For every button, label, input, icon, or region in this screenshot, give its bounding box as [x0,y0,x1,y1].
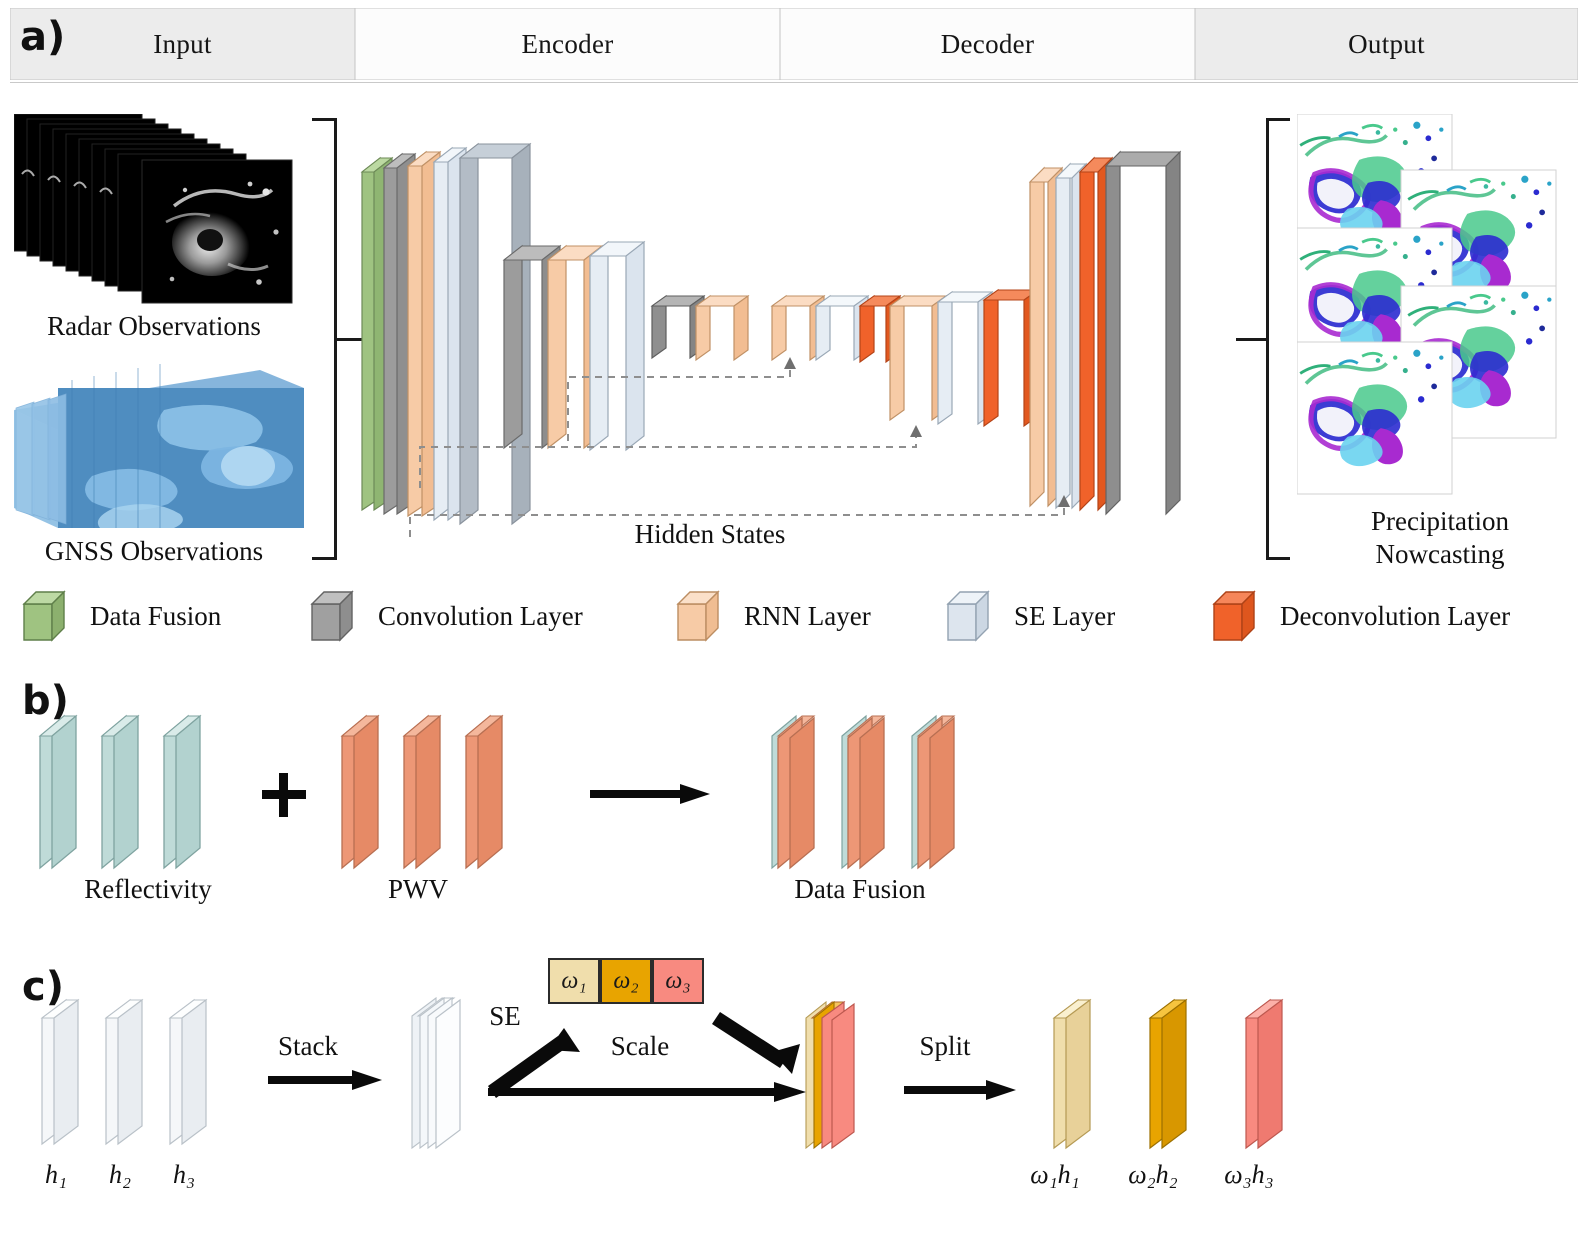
legend-item-convolution-layer: Convolution Layer [310,588,583,644]
se-weight-box-2: ω₂ [600,958,652,1004]
se-weight-3-label: ω₃ [665,968,690,995]
radar-observations-stack [14,114,299,309]
se-weight-box-3: ω₃ [652,958,704,1004]
op-stack-label: Stack [238,1030,378,1063]
output-bracket [1248,118,1290,560]
legend-item-rnn-layer: RNN Layer [676,588,871,644]
scaled-output-1-label: ω₁h₁ [1000,1160,1110,1190]
op-scale-label: Scale [575,1030,705,1063]
panel-b-slabs [20,690,1000,870]
scaled-output-2-label: ω₂h₂ [1098,1160,1208,1190]
precipitation-nowcasting-stack [1297,114,1582,504]
panel-a-letter: a) [20,14,65,60]
legend-label-data-fusion: Data Fusion [90,601,221,632]
se-weight-1-label: ω₁ [561,968,586,995]
legend-label-rnn-layer: RNN Layer [744,601,871,632]
stage-encoder-label: Encoder [521,29,613,60]
rnn-cube-icon [676,588,728,644]
data-fusion-result-label: Data Fusion [740,873,980,906]
stage-decoder: Decoder [780,8,1195,80]
gnss-observations-stack [14,358,304,538]
deconvolution-cube-icon [1212,588,1264,644]
legend-label-se-layer: SE Layer [1014,601,1115,632]
legend-item-deconvolution-layer: Deconvolution Layer [1212,588,1510,644]
stage-input-label: Input [153,29,212,60]
se-weight-2-label: ω₂ [613,968,638,995]
precip-label-line2: Nowcasting [1376,539,1505,569]
hidden-input-1-label: h₁ [28,1160,84,1190]
legend-label-deconvolution-layer: Deconvolution Layer [1280,601,1510,632]
hidden-input-2-label: h₂ [92,1160,148,1190]
se-cube-icon [946,588,998,644]
header-underline [10,82,1578,83]
pipeline-header: Input Encoder Decoder Output [10,8,1578,80]
op-split-label: Split [890,1030,1000,1063]
radar-frames [14,114,299,309]
se-weight-box-1: ω₁ [548,958,600,1004]
panel-c-diagram [20,990,1580,1170]
radar-observations-label: Radar Observations [4,310,304,343]
precipitation-nowcasting-label: Precipitation Nowcasting [1300,505,1580,571]
legend-label-convolution-layer: Convolution Layer [378,601,583,632]
hidden-states-label: Hidden States [570,518,850,551]
pwv-label: PWV [318,873,518,906]
convolution-cube-icon [310,588,362,644]
precip-label-line1: Precipitation [1371,506,1509,536]
hidden-input-3-label: h₃ [156,1160,212,1190]
stage-output: Output [1195,8,1578,80]
legend-item-data-fusion: Data Fusion [22,588,221,644]
stage-encoder: Encoder [355,8,780,80]
stage-decoder-label: Decoder [941,29,1035,60]
stage-output-label: Output [1348,29,1425,60]
op-se-label: SE [470,1000,540,1033]
scaled-output-3-label: ω₃h₃ [1194,1160,1304,1190]
gnss-observations-label: GNSS Observations [4,535,304,568]
legend-item-se-layer: SE Layer [946,588,1115,644]
input-bracket [312,118,352,560]
gnss-frames [14,358,304,538]
reflectivity-label: Reflectivity [28,873,268,906]
precipitation-frames [1297,114,1582,504]
data-fusion-cube-icon [22,588,74,644]
